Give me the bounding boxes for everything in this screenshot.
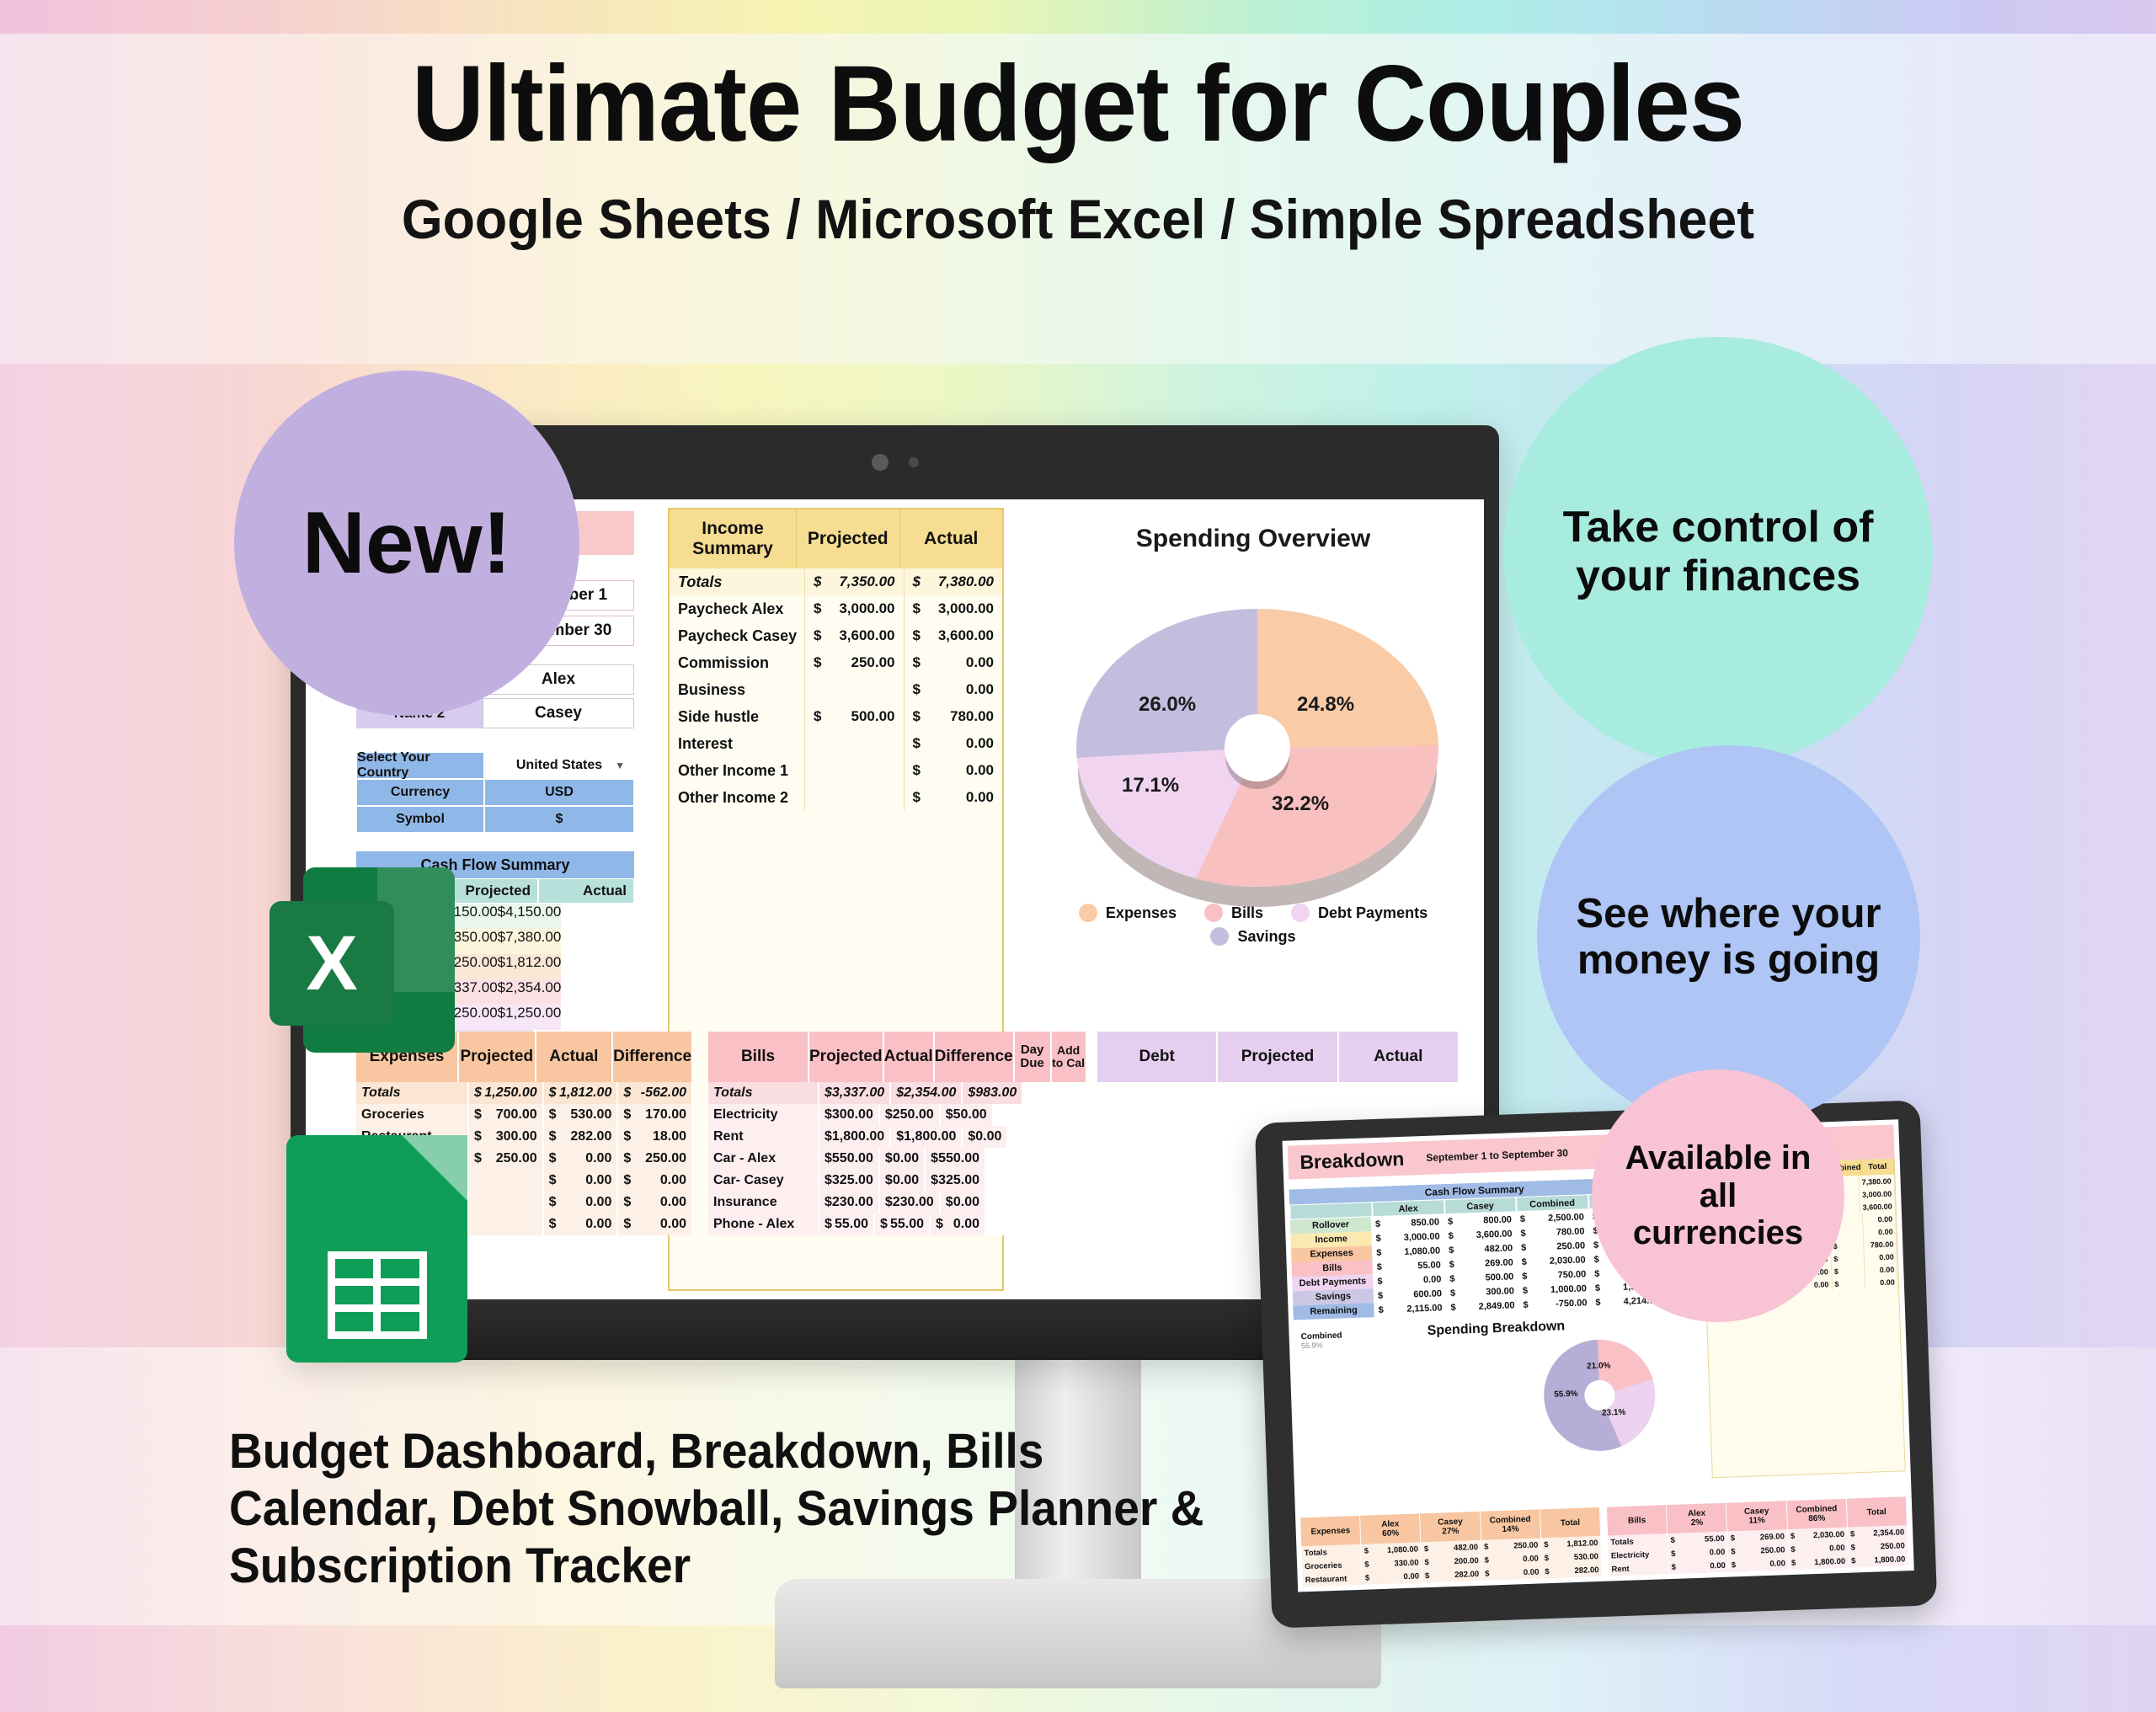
- symbol-value: $: [484, 806, 634, 833]
- income-summary-col-projected: Projected: [797, 509, 900, 568]
- bar-label: Expenses: [1481, 536, 1484, 550]
- breakdown-date-range: September 1 to September 30: [1426, 1147, 1568, 1164]
- table-cell: $983.00: [963, 1082, 1023, 1104]
- table-cell: $: [1832, 1264, 1865, 1277]
- table-row: Phone - Alex$55.00$55.00$0.00: [708, 1213, 1079, 1235]
- row-label: Rent: [1609, 1560, 1669, 1576]
- table-cell: $230.00: [880, 1192, 941, 1213]
- currency-value: USD: [484, 779, 634, 806]
- table-cell: $1,800.00: [819, 1126, 891, 1148]
- table-cell: [805, 757, 905, 784]
- table-cell: $325.00: [926, 1170, 986, 1192]
- column-header: Casey11%: [1726, 1501, 1787, 1531]
- badge-available-currencies: Available in all currencies: [1592, 1069, 1844, 1322]
- table-row: Car - Alex$550.00$0.00$550.00: [708, 1148, 1079, 1170]
- table-cell: $55.00: [875, 1213, 931, 1235]
- table-cell: $0.00: [544, 1213, 619, 1235]
- table-cell: $7,380.00: [905, 568, 1003, 595]
- tablet-income-col-total: Total: [1861, 1160, 1894, 1176]
- table-cell: $3,600.00: [905, 622, 1003, 649]
- table-cell: [1033, 1148, 1079, 1170]
- bar-chart-rows: ExpensesBillsDebt PaymentsSavings: [1481, 525, 1484, 673]
- column-header: Combined86%: [1786, 1499, 1847, 1529]
- table-cell: $0.00: [1668, 1559, 1729, 1574]
- table-cell: $0.00: [905, 649, 1003, 676]
- spending-overview-donut: 24.8% 32.2% 17.1% 26.0%: [1076, 609, 1438, 887]
- income-summary-col-actual: Actual: [900, 509, 1003, 568]
- table-cell: $1,250.00: [469, 1082, 544, 1104]
- table-row: Totals$3,337.00$2,354.00$983.00: [708, 1082, 1079, 1104]
- table-cell: $2,354.00: [498, 979, 562, 1005]
- country-select[interactable]: United States ▼: [484, 752, 634, 779]
- page-subtitle: Google Sheets / Microsoft Excel / Simple…: [54, 187, 2102, 251]
- table-cell: [986, 1192, 1033, 1213]
- table-cell: 0.00: [1863, 1212, 1897, 1225]
- table-cell: [805, 730, 905, 757]
- table-cell: $3,000.00: [905, 595, 1003, 622]
- table-cell: $550.00: [819, 1148, 880, 1170]
- table-cell: $3,337.00: [819, 1082, 891, 1104]
- google-sheets-logo-icon: [286, 1135, 467, 1363]
- row-label: Paycheck Alex: [670, 595, 805, 622]
- spending-breakdown-donut: 21.0% 23.1% 55.9%: [1542, 1338, 1657, 1453]
- badge-take-control: Take control of your finances: [1503, 337, 1933, 766]
- table-cell: $0.00: [1363, 1569, 1423, 1584]
- bar-label: Savings: [1481, 648, 1484, 661]
- excel-logo-icon: X: [269, 867, 455, 1069]
- bills-table-headers: Bills Projected Actual Difference Day Du…: [708, 1032, 1079, 1082]
- table-cell: 0.00: [1863, 1224, 1897, 1238]
- bills-col-day-due: Day Due: [1015, 1032, 1052, 1082]
- table-cell: $2,849.00: [1446, 1298, 1519, 1315]
- table-cell: $0.00: [618, 1213, 693, 1235]
- table-row: Insurance$230.00$230.00$0.00: [708, 1192, 1079, 1213]
- table-row: Paycheck Casey$3,600.00$3,600.00: [670, 622, 1002, 649]
- table-row: Electricity$300.00$250.00$50.00: [708, 1104, 1079, 1126]
- debt-table: Debt Projected Actual: [1097, 1032, 1460, 1082]
- row-label: Electricity: [708, 1104, 819, 1126]
- symbol-row: Symbol $: [356, 806, 634, 833]
- table-cell: $250.00: [618, 1148, 693, 1170]
- table-cell: [1008, 1126, 1055, 1148]
- row-label: Remaining: [1293, 1303, 1374, 1320]
- table-cell: $0.00: [1482, 1565, 1543, 1580]
- table-cell: $0.00: [963, 1126, 1008, 1148]
- legend-label-expenses: Expenses: [1106, 904, 1177, 922]
- currency-label: Currency: [356, 779, 484, 806]
- table-cell: $700.00: [469, 1104, 544, 1126]
- table-cell: [1055, 1126, 1101, 1148]
- table-cell: [1041, 1104, 1086, 1126]
- table-cell: 3,000.00: [1860, 1187, 1896, 1200]
- country-label: Select Your Country: [356, 752, 484, 779]
- breakdown-label-alex: 21.0%: [1587, 1361, 1611, 1371]
- table-cell: [1070, 1082, 1116, 1104]
- table-cell: $0.00: [905, 730, 1003, 757]
- tablet-bills-table: BillsAlex2%Casey11%Combined86%Total Tota…: [1607, 1496, 1909, 1576]
- table-cell: $0.00: [544, 1170, 619, 1192]
- table-cell: 0.00: [1865, 1275, 1898, 1288]
- bar-label: Bills: [1481, 573, 1484, 587]
- table-cell: $0.00: [931, 1213, 986, 1235]
- table-cell: $1,800.00: [1789, 1555, 1849, 1570]
- table-row: Groceries$700.00$530.00$170.00: [356, 1104, 693, 1126]
- legend-label-bills: Bills: [1231, 904, 1263, 922]
- spending-overview-legend: Expenses Bills Debt Payments Savings: [1017, 904, 1484, 951]
- table-cell: $0.00: [618, 1170, 693, 1192]
- row-label: Restaurant: [1302, 1571, 1363, 1587]
- name-2-value[interactable]: Casey: [483, 698, 634, 728]
- table-cell: $250.00: [880, 1104, 941, 1126]
- table-cell: $2,354.00: [891, 1082, 963, 1104]
- donut-hole: [1225, 714, 1289, 781]
- legend-item-savings[interactable]: Savings: [1210, 927, 1295, 946]
- table-row: Totals$1,250.00$1,812.00$-562.00: [356, 1082, 693, 1104]
- table-cell: $4,150.00: [498, 904, 562, 929]
- table-cell: $0.00: [880, 1170, 926, 1192]
- row-label: Other Income 1: [670, 757, 805, 784]
- debt-col-actual: Actual: [1339, 1032, 1460, 1082]
- table-cell: $-750.00: [1518, 1295, 1592, 1312]
- table-cell: $1,800.00: [891, 1126, 963, 1148]
- table-cell: $1,812.00: [544, 1082, 619, 1104]
- table-cell: $0.00: [941, 1192, 986, 1213]
- debt-col-name: Debt: [1097, 1032, 1218, 1082]
- row-label: Business: [670, 676, 805, 703]
- pie-label-bills: 32.2%: [1272, 792, 1329, 816]
- page-title: Ultimate Budget for Couples: [76, 51, 2081, 158]
- table-cell: $0.00: [618, 1192, 693, 1213]
- table-cell: $0.00: [1729, 1556, 1790, 1571]
- breakdown-title: Breakdown: [1299, 1147, 1405, 1173]
- bills-col-projected: Projected: [809, 1032, 884, 1082]
- table-cell: [1033, 1213, 1079, 1235]
- pie-label-savings: 26.0%: [1139, 693, 1196, 717]
- table-cell: $780.00: [905, 703, 1003, 730]
- column-header: Expenses: [1300, 1516, 1361, 1546]
- row-label: Rent: [708, 1126, 819, 1148]
- row-label: Insurance: [708, 1192, 819, 1213]
- sheets-grid-icon: [328, 1251, 427, 1339]
- row-label: Phone - Alex: [708, 1213, 819, 1235]
- income-summary-col-name: Income Summary: [670, 509, 797, 568]
- table-cell: $250.00: [469, 1148, 544, 1170]
- column-header: Casey27%: [1420, 1512, 1481, 1542]
- spending-overview-chart: Spending Overview 24.8% 32.2% 17.1% 26.0…: [1017, 508, 1484, 1013]
- table-row: Car- Casey$325.00$0.00$325.00: [708, 1170, 1079, 1192]
- table-cell: [469, 1170, 544, 1192]
- bills-table: Bills Projected Actual Difference Day Du…: [708, 1032, 1079, 1235]
- row-label: Commission: [670, 649, 805, 676]
- table-row: Side hustle$500.00$780.00: [670, 703, 1002, 730]
- table-cell: $-562.00: [618, 1082, 693, 1104]
- breakdown-callout-combined: Combined55.9%: [1300, 1331, 1342, 1351]
- row-label: Paycheck Casey: [670, 622, 805, 649]
- table-row: Totals$7,350.00$7,380.00: [670, 568, 1002, 595]
- table-row: Other Income 2$0.00: [670, 784, 1002, 811]
- feature-list-text: Budget Dashboard, Breakdown, Bills Calen…: [229, 1423, 1230, 1595]
- table-cell: $7,380.00: [498, 929, 562, 954]
- legend-item-debt-payments[interactable]: Debt Payments: [1291, 904, 1428, 922]
- bar-row: Debt Payments: [1481, 599, 1484, 636]
- bar-row: Savings: [1481, 636, 1484, 673]
- bills-table-rows: Totals$3,337.00$2,354.00$983.00Electrici…: [708, 1082, 1079, 1235]
- row-label: Car - Alex: [708, 1148, 819, 1170]
- table-row: Business$0.00: [670, 676, 1002, 703]
- table-cell: $500.00: [805, 703, 905, 730]
- table-row: Commission$250.00$0.00: [670, 649, 1002, 676]
- table-cell: $282.00: [1422, 1567, 1483, 1582]
- table-cell: $282.00: [544, 1126, 619, 1148]
- chevron-down-icon[interactable]: ▼: [615, 760, 625, 771]
- table-cell: [986, 1170, 1033, 1192]
- legend-item-expenses[interactable]: Expenses: [1079, 904, 1177, 922]
- table-cell: [986, 1148, 1033, 1170]
- table-cell: $0.00: [544, 1192, 619, 1213]
- symbol-label: Symbol: [356, 806, 484, 833]
- income-summary-headers: Income Summary Projected Actual: [670, 509, 1002, 568]
- bills-col-add-to-cal: Add to Cal: [1052, 1032, 1087, 1082]
- bills-col-actual: Actual: [884, 1032, 935, 1082]
- row-label: Groceries: [356, 1104, 469, 1126]
- table-cell: [469, 1213, 544, 1235]
- table-cell: $: [1832, 1277, 1865, 1290]
- table-cell: $50.00: [941, 1104, 994, 1126]
- pie-label-debt: 17.1%: [1122, 774, 1179, 797]
- table-cell: $250.00: [805, 649, 905, 676]
- table-cell: $1,812.00: [498, 954, 562, 979]
- background-rainbow-strip: [0, 0, 2156, 34]
- country-value: United States: [516, 758, 602, 773]
- row-label: Other Income 2: [670, 784, 805, 811]
- bar-row: Bills: [1481, 562, 1484, 599]
- table-cell: $282.00: [1542, 1563, 1603, 1578]
- table-cell: $18.00: [618, 1126, 693, 1148]
- column-header: Bills: [1607, 1505, 1668, 1535]
- row-label: Totals: [356, 1082, 469, 1104]
- table-row: Other Income 1$0.00: [670, 757, 1002, 784]
- table-cell: [986, 1213, 1033, 1235]
- badge-new: New!: [234, 371, 579, 716]
- table-cell: $550.00: [926, 1148, 986, 1170]
- column-header: Total: [1847, 1496, 1908, 1527]
- table-cell: $300.00: [819, 1104, 880, 1126]
- expenses-col-actual: Actual: [536, 1032, 614, 1082]
- breakdown-label-casey: 23.1%: [1602, 1408, 1626, 1418]
- row-label: Totals: [670, 568, 805, 595]
- expenses-col-difference: Difference: [613, 1032, 693, 1082]
- table-cell: [1033, 1192, 1079, 1213]
- table-row: Interest$0.00: [670, 730, 1002, 757]
- row-label: Car- Casey: [708, 1170, 819, 1192]
- table-cell: $170.00: [618, 1104, 693, 1126]
- table-cell: [1023, 1082, 1070, 1104]
- balance-area-chart: Balance 0.00 -2,000.00 -4,000.00 -6,000.…: [1481, 777, 1484, 1030]
- webcam-led-icon: [909, 457, 919, 467]
- table-cell: $325.00: [819, 1170, 880, 1192]
- table-cell: [805, 784, 905, 811]
- table-cell: 7,380.00: [1859, 1174, 1895, 1187]
- webcam-icon: [872, 454, 889, 471]
- tablet-expenses-table: ExpensesAlex60%Casey27%Combined14%Total …: [1300, 1507, 1603, 1587]
- currency-settings-block: Select Your Country United States ▼ Curr…: [356, 752, 634, 833]
- table-row: Paycheck Alex$3,000.00$3,000.00: [670, 595, 1002, 622]
- table-cell: $530.00: [544, 1104, 619, 1126]
- table-cell: $0.00: [905, 784, 1003, 811]
- table-cell: $0.00: [880, 1148, 926, 1170]
- table-cell: [805, 676, 905, 703]
- table-cell: $2,115.00: [1374, 1300, 1447, 1317]
- poster-canvas: Ultimate Budget for Couples Google Sheet…: [0, 0, 2156, 1712]
- legend-label-savings: Savings: [1237, 928, 1295, 946]
- table-cell: $1,250.00: [498, 1005, 562, 1030]
- tablet-bottom-tables: ExpensesAlex60%Casey27%Combined14%Total …: [1300, 1496, 1908, 1587]
- table-cell: $7,350.00: [805, 568, 905, 595]
- legend-item-bills[interactable]: Bills: [1204, 904, 1263, 922]
- bills-col-name: Bills: [708, 1032, 809, 1082]
- table-cell: $3,600.00: [805, 622, 905, 649]
- table-cell: 3,600.00: [1860, 1199, 1896, 1213]
- bar-row: Expenses: [1481, 525, 1484, 562]
- income-summary-rows: Totals$7,350.00$7,380.00Paycheck Alex$3,…: [670, 568, 1002, 811]
- table-cell: $0.00: [905, 676, 1003, 703]
- table-cell: [1033, 1170, 1079, 1192]
- column-header: Combined14%: [1481, 1509, 1541, 1539]
- table-cell: $3,000.00: [805, 595, 905, 622]
- pie-label-expenses: 24.8%: [1297, 693, 1354, 717]
- row-label: Interest: [670, 730, 805, 757]
- column-header: Total: [1540, 1507, 1601, 1538]
- bar-label: Debt Payments: [1481, 611, 1484, 624]
- table-cell: $: [1831, 1251, 1865, 1265]
- spending-overview-title: Spending Overview: [1017, 525, 1484, 553]
- table-row: Rent$1,800.00$1,800.00$0.00: [708, 1126, 1079, 1148]
- breakdown-label-combined: 55.9%: [1554, 1389, 1578, 1400]
- table-cell: $230.00: [819, 1192, 880, 1213]
- debt-col-projected: Projected: [1218, 1032, 1338, 1082]
- poster-header: Ultimate Budget for Couples Google Sheet…: [0, 51, 2156, 251]
- excel-x-glyph: X: [269, 901, 394, 1026]
- table-cell: 0.00: [1865, 1262, 1898, 1276]
- legend-label-debt-payments: Debt Payments: [1318, 904, 1428, 922]
- row-label: Side hustle: [670, 703, 805, 730]
- bills-col-difference: Difference: [935, 1032, 1015, 1082]
- currency-row: Currency USD: [356, 779, 634, 806]
- table-cell: $0.00: [544, 1148, 619, 1170]
- balance-chart-title: Balance: [1481, 777, 1484, 796]
- debt-table-headers: Debt Projected Actual: [1097, 1032, 1460, 1082]
- column-header: Alex2%: [1667, 1503, 1727, 1533]
- cash-flow-projected-header: Projected: [442, 878, 538, 904]
- column-header: Alex60%: [1360, 1513, 1421, 1544]
- expenses-col-projected: Projected: [459, 1032, 536, 1082]
- cash-flow-actual-header: Actual: [538, 878, 634, 904]
- table-cell: [469, 1192, 544, 1213]
- table-cell: 780.00: [1864, 1237, 1897, 1251]
- table-cell: 0.00: [1864, 1250, 1897, 1263]
- table-cell: [994, 1104, 1041, 1126]
- table-cell: $0.00: [905, 757, 1003, 784]
- table-cell: $300.00: [469, 1126, 544, 1148]
- table-cell: $55.00: [819, 1213, 875, 1235]
- row-label: Totals: [708, 1082, 819, 1104]
- country-row[interactable]: Select Your Country United States ▼: [356, 752, 634, 779]
- spending-bar-chart: ExpensesBillsDebt PaymentsSavings 0.00 1…: [1481, 525, 1484, 735]
- table-cell: $1,800.00: [1849, 1552, 1909, 1567]
